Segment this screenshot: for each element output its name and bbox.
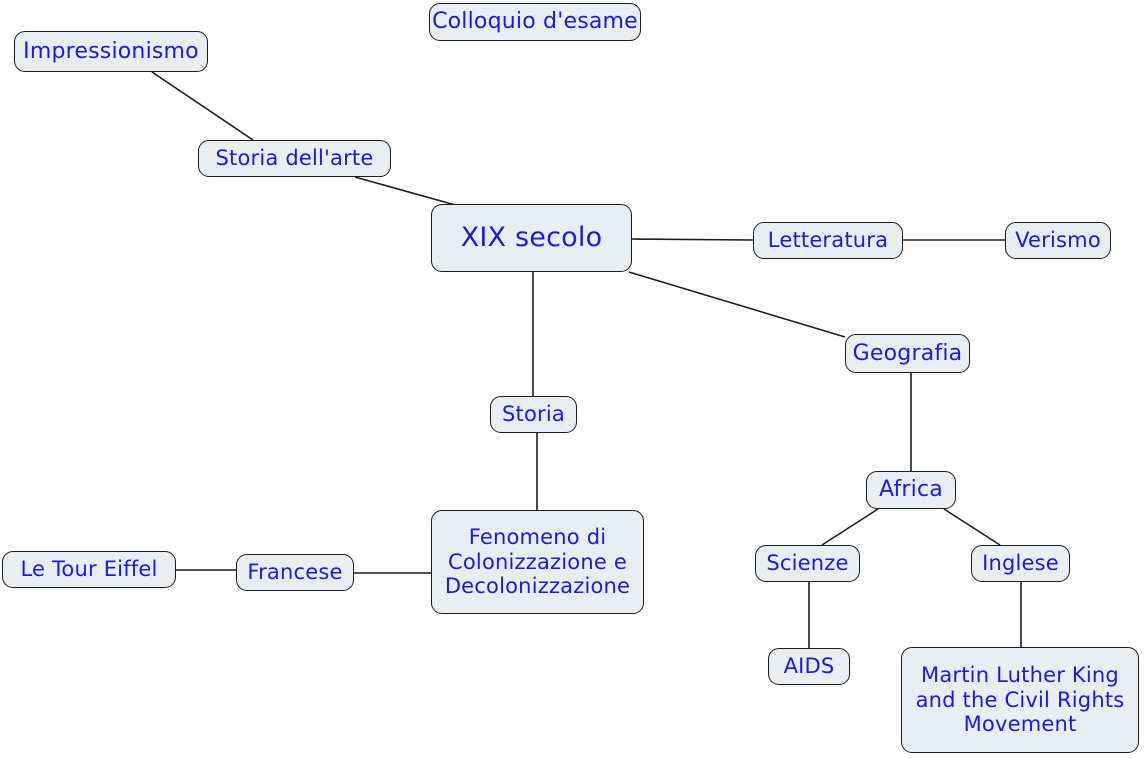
connector-africa-scienze bbox=[822, 509, 878, 545]
node-fenomeno[interactable]: Fenomeno di Colonizzazione e Decolonizza… bbox=[431, 510, 644, 614]
node-storia-arte[interactable]: Storia dell'arte bbox=[198, 140, 391, 177]
node-geografia[interactable]: Geografia bbox=[845, 334, 970, 373]
connector-layer bbox=[0, 0, 1144, 759]
node-letteratura[interactable]: Letteratura bbox=[753, 222, 903, 259]
connector-africa-inglese bbox=[944, 509, 1000, 545]
connector-impressionismo-storia-arte bbox=[152, 72, 253, 140]
node-verismo[interactable]: Verismo bbox=[1005, 222, 1111, 259]
node-storia[interactable]: Storia bbox=[490, 396, 577, 433]
node-xix-secolo[interactable]: XIX secolo bbox=[431, 204, 632, 272]
mindmap-canvas: Colloquio d'esameImpressionismoStoria de… bbox=[0, 0, 1144, 759]
connector-xix-geografia bbox=[629, 272, 845, 337]
node-africa[interactable]: Africa bbox=[866, 471, 956, 509]
node-mlk[interactable]: Martin Luther King and the Civil Rights … bbox=[901, 647, 1139, 753]
connector-xix-letteratura bbox=[632, 239, 753, 240]
node-aids[interactable]: AIDS bbox=[768, 648, 850, 685]
node-le-tour-eiffel[interactable]: Le Tour Eiffel bbox=[2, 551, 176, 588]
node-scienze[interactable]: Scienze bbox=[755, 545, 860, 582]
node-impressionismo[interactable]: Impressionismo bbox=[14, 31, 208, 72]
node-inglese[interactable]: Inglese bbox=[971, 545, 1070, 582]
node-colloquio[interactable]: Colloquio d'esame bbox=[429, 3, 641, 41]
node-francese[interactable]: Francese bbox=[236, 554, 354, 591]
